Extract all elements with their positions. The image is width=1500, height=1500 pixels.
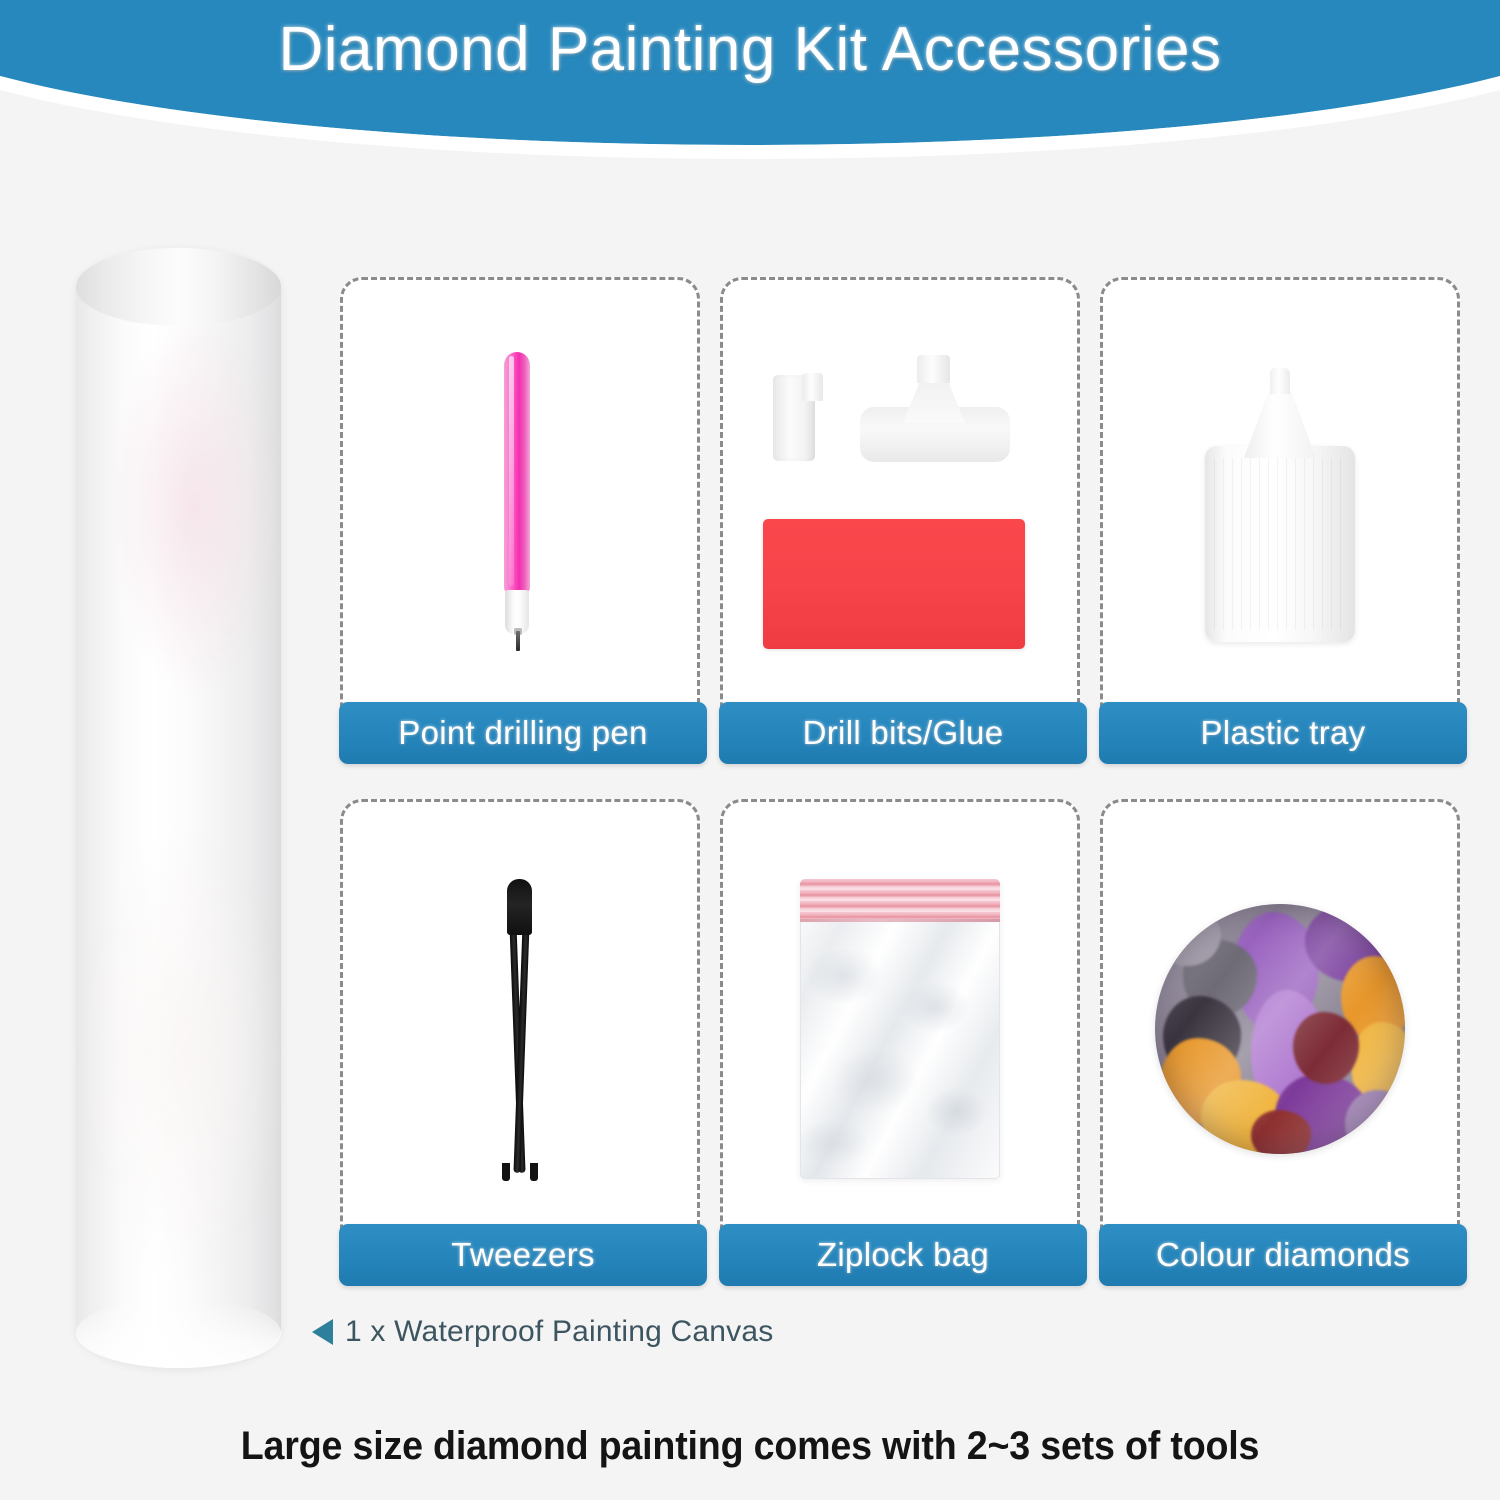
single-drill-bit [773,375,815,461]
card-label-colour-diamonds: Colour diamonds [1099,1224,1467,1286]
multi-placer-bit-neck [917,355,950,383]
canvas-roll [76,248,281,1368]
card-row-bottom: Tweezers Ziplock bag [340,799,1460,1259]
ziplock-bag-zip-strip [800,879,1000,921]
single-drill-bit-neck [802,373,823,401]
card-colour-diamonds[interactable]: Colour diamonds [1100,799,1460,1259]
drill-bits-glue-icon [755,357,1045,657]
card-media [723,802,1077,1256]
card-label-point-drilling-pen: Point drilling pen [339,702,707,764]
card-media [343,802,697,1256]
canvas-caption: 1 x Waterproof Painting Canvas [312,1315,773,1349]
card-label-ziplock-bag: Ziplock bag [719,1224,1087,1286]
tray-grooves [1214,458,1346,630]
drilling-pen-icon [490,352,550,652]
canvas-caption-text: 1 x Waterproof Painting Canvas [345,1315,773,1349]
header-banner: Diamond Painting Kit Accessories [0,0,1500,200]
tweezers-tip-left [502,1163,510,1181]
tweezers-tip-right [530,1163,538,1181]
pen-body [504,352,530,592]
card-media [723,280,1077,734]
card-point-drilling-pen[interactable]: Point drilling pen [340,277,700,737]
accessory-card-grid: Point drilling pen Drill bits/Glue [340,277,1460,1259]
canvas-roll-top-cap [76,248,281,326]
page-title: Diamond Painting Kit Accessories [0,14,1500,85]
glue-clay-block [763,519,1025,649]
card-tweezers[interactable]: Tweezers [340,799,700,1259]
multi-placer-bit-cone [903,377,965,423]
pen-needle-tip [516,631,520,651]
card-label-plastic-tray: Plastic tray [1099,702,1467,764]
footer-tagline: Large size diamond painting comes with 2… [45,1424,1455,1469]
colour-diamonds-icon [1155,904,1405,1154]
ziplock-bag-seal-line [800,919,1000,922]
card-label-drill-bits-glue: Drill bits/Glue [719,702,1087,764]
tray-spout [1270,368,1290,394]
card-row-top: Point drilling pen Drill bits/Glue [340,277,1460,737]
card-media [343,280,697,734]
canvas-roll-bottom-cap [76,1298,281,1368]
tray-funnel [1244,384,1316,458]
ziplock-bag-crinkles [800,919,1000,1179]
card-media [1103,280,1457,734]
card-label-tweezers: Tweezers [339,1224,707,1286]
tweezers-icon [480,879,560,1179]
tweezers-joint [507,879,532,935]
card-drill-bits-glue[interactable]: Drill bits/Glue [720,277,1080,737]
left-triangle-icon [312,1319,333,1345]
card-media [1103,802,1457,1256]
canvas-roll-tint [76,248,281,1368]
plastic-tray-icon [1200,362,1360,652]
card-plastic-tray[interactable]: Plastic tray [1100,277,1460,737]
ziplock-bag-icon [800,879,1000,1179]
card-ziplock-bag[interactable]: Ziplock bag [720,799,1080,1259]
pen-highlight [509,356,514,586]
colour-diamonds-vignette [1155,904,1405,1154]
